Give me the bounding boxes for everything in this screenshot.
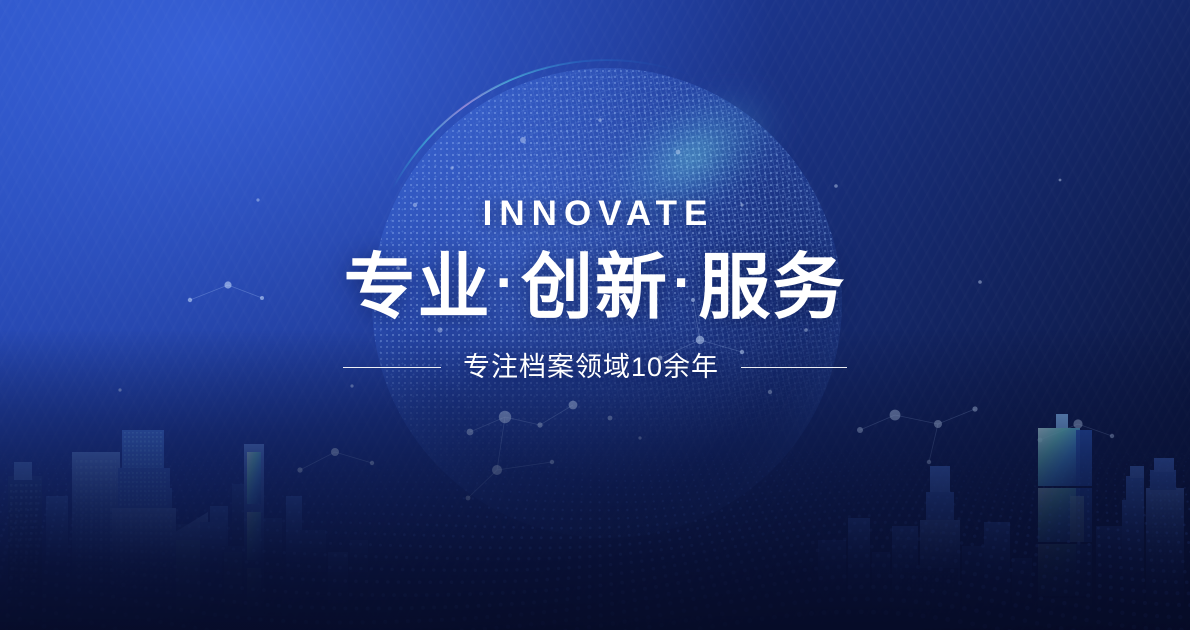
divider-line-right xyxy=(741,367,847,369)
city-left-glow-group xyxy=(172,512,244,630)
particle-wave-field xyxy=(0,440,1190,630)
city-left-filler xyxy=(300,530,368,630)
hero-banner: INNOVATE 专业·创新·服务 专注档案领域10余年 xyxy=(0,0,1190,630)
subtitle-row: 专注档案领域10余年 xyxy=(0,324,1190,381)
city-right-cluster xyxy=(818,466,1032,630)
eyebrow-text: INNOVATE xyxy=(0,0,1190,231)
city-right-far xyxy=(1096,458,1184,630)
headline-separator-1: · xyxy=(492,254,521,312)
headline-part-2: 创新 xyxy=(521,248,669,328)
city-left-bright-tower xyxy=(244,444,264,630)
city-left-cluster xyxy=(8,430,302,630)
hero-content: INNOVATE 专业·创新·服务 专注档案领域10余年 xyxy=(0,0,1190,381)
subtitle-text: 专注档案领域10余年 xyxy=(463,354,719,381)
divider-line-left xyxy=(343,367,441,369)
headline-part-1: 专业 xyxy=(344,248,492,328)
headline-part-3: 服务 xyxy=(698,248,846,328)
page-title: 专业·创新·服务 xyxy=(0,231,1190,324)
city-hero-glow-tower xyxy=(1038,414,1092,630)
headline-separator-2: · xyxy=(669,254,698,312)
city-right-grid-block xyxy=(902,568,958,630)
cityscape-graphic xyxy=(0,400,1190,630)
